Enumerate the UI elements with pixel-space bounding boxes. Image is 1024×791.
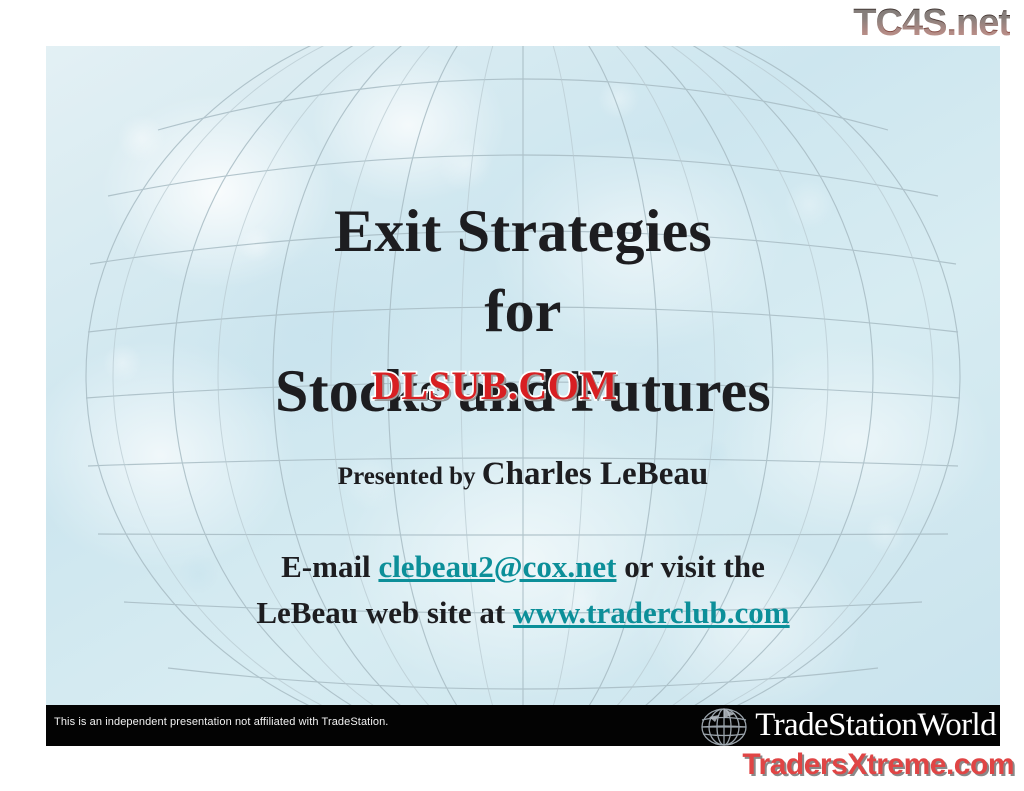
- watermark-dlsub: DLSUB.COM: [372, 364, 618, 408]
- footer-bar: This is an independent presentation not …: [46, 705, 1000, 746]
- watermark-tradersxtreme: TradersXtreme.com: [742, 748, 1014, 782]
- contact-line-1: E-mail clebeau2@cox.net or visit the: [46, 544, 1000, 590]
- watermark-tc4s: TC4S.net: [853, 2, 1010, 44]
- contact-line-2: LeBeau web site at www.traderclub.com: [46, 590, 1000, 636]
- globe-wireframe-icon: [695, 706, 753, 746]
- presenter-name: Charles LeBeau: [482, 456, 708, 492]
- contact-info: E-mail clebeau2@cox.net or visit the LeB…: [46, 544, 1000, 636]
- email-label: E-mail: [281, 549, 378, 584]
- website-link[interactable]: www.traderclub.com: [513, 595, 790, 630]
- email-link[interactable]: clebeau2@cox.net: [378, 549, 616, 584]
- contact-line-1-suffix: or visit the: [616, 549, 764, 584]
- disclaimer-text: This is an independent presentation not …: [54, 716, 388, 728]
- tradestationworld-label: TradeStationWorld: [755, 709, 996, 742]
- title-line-2: for: [46, 271, 1000, 351]
- tradestationworld-logo: TradeStationWorld: [695, 705, 996, 746]
- website-label: LeBeau web site at: [256, 595, 513, 630]
- title-line-1: Exit Strategies: [46, 191, 1000, 271]
- presenter-credit: Presented by Charles LeBeau: [46, 456, 1000, 493]
- presenter-prefix: Presented by: [338, 463, 476, 490]
